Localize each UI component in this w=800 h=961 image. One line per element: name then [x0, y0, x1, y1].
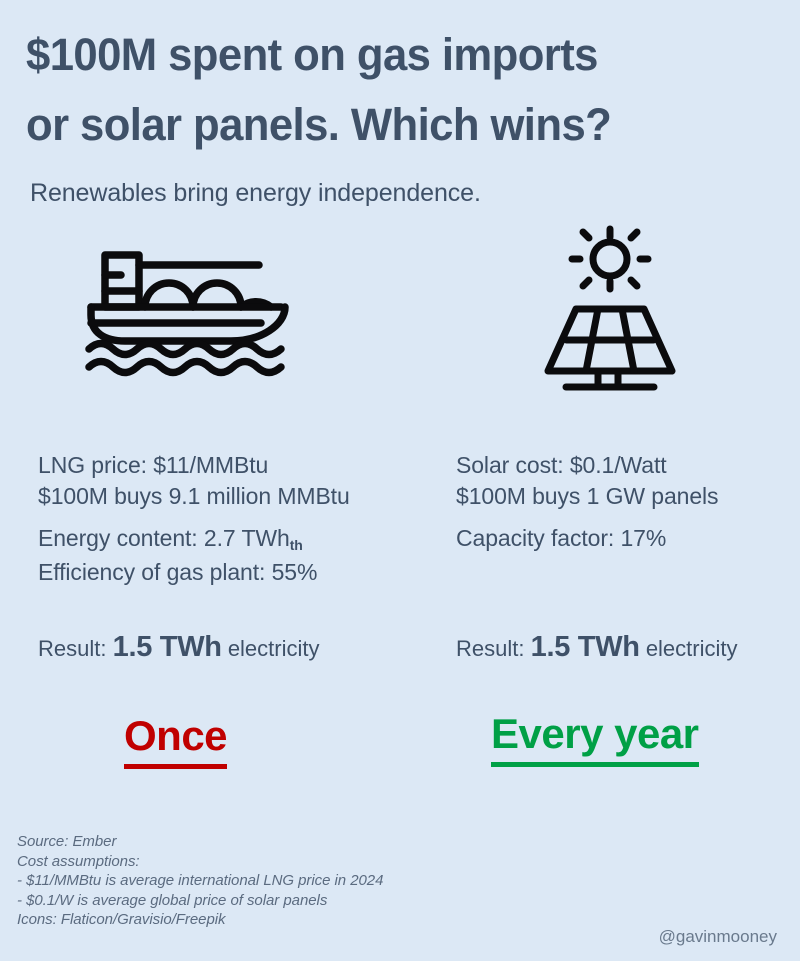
left-result-line: Result: 1.5 TWh electricity	[38, 632, 320, 664]
spec-line: LNG price: $11/MMBtu	[38, 450, 438, 481]
spec-line-energy-content: Energy content: 2.7 TWhth	[38, 523, 438, 557]
author-handle: @gavinmooney	[659, 927, 777, 947]
result-value: 1.5 TWh	[113, 631, 222, 663]
result-prefix: Result:	[456, 636, 524, 661]
footnotes: Source: Ember Cost assumptions: - $11/MM…	[17, 832, 617, 930]
energy-subscript: th	[290, 537, 303, 553]
left-verdict-once: Once	[124, 712, 227, 769]
spec-line: Efficiency of gas plant: 55%	[38, 557, 438, 588]
footnote-line: Cost assumptions:	[17, 852, 617, 872]
right-column-specs: Solar cost: $0.1/Watt $100M buys 1 GW pa…	[456, 450, 796, 554]
result-suffix: electricity	[646, 636, 738, 661]
right-result-line: Result: 1.5 TWh electricity	[456, 632, 738, 664]
footnote-line: Source: Ember	[17, 832, 617, 852]
result-suffix: electricity	[228, 636, 320, 661]
spec-line: Solar cost: $0.1/Watt	[456, 450, 796, 481]
infographic-page: $100M spent on gas imports or solar pane…	[0, 0, 800, 961]
title-line-2: or solar panels. Which wins?	[26, 90, 752, 160]
result-prefix: Result:	[38, 636, 106, 661]
spec-line: $100M buys 9.1 million MMBtu	[38, 481, 438, 512]
spec-line: $100M buys 1 GW panels	[456, 481, 796, 512]
footnote-line: Icons: Flaticon/Gravisio/Freepik	[17, 910, 617, 930]
subtitle: Renewables bring energy independence.	[30, 177, 481, 209]
footnote-line: - $0.1/W is average global price of sola…	[17, 891, 617, 911]
result-value: 1.5 TWh	[531, 631, 640, 663]
left-column-specs: LNG price: $11/MMBtu $100M buys 9.1 mill…	[38, 450, 438, 588]
page-title: $100M spent on gas imports or solar pane…	[26, 20, 774, 160]
solar-panel-icon	[460, 212, 760, 402]
spec-energy-text: Energy content: 2.7 TWh	[38, 525, 290, 551]
title-line-1: $100M spent on gas imports	[26, 20, 752, 90]
icon-row	[0, 212, 800, 402]
lng-tanker-ship-icon	[40, 212, 340, 402]
spec-line: Capacity factor: 17%	[456, 523, 796, 554]
footnote-line: - $11/MMBtu is average international LNG…	[17, 871, 617, 891]
right-verdict-every-year: Every year	[491, 710, 699, 767]
